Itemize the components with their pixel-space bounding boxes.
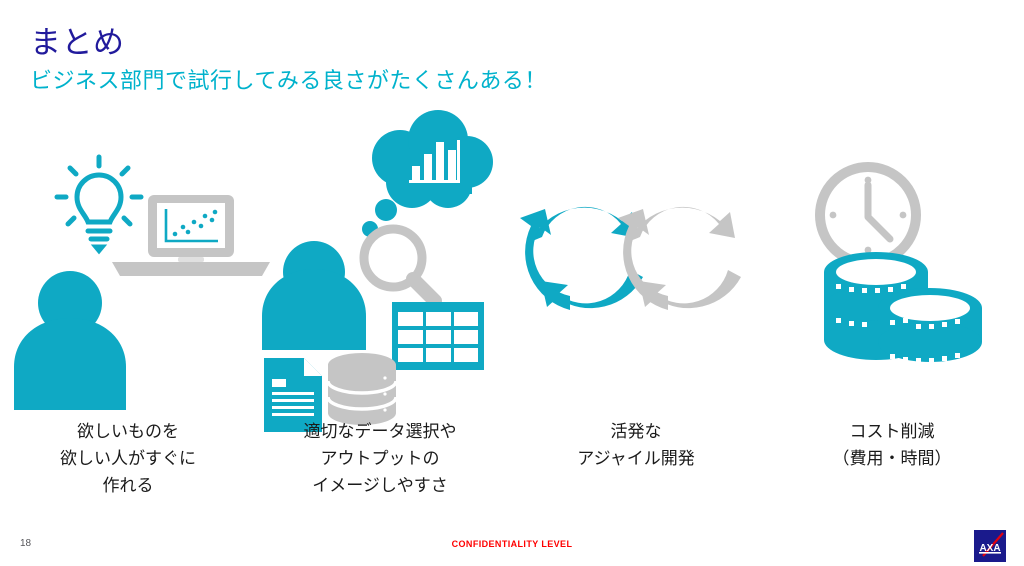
caption-column-3: 活発な アジャイル開発 — [508, 418, 764, 472]
confidentiality-label: CONFIDENTIALITY LEVEL — [0, 539, 1024, 549]
cycle-arrows-gray-icon — [618, 207, 741, 310]
lightbulb-icon — [57, 157, 141, 252]
page-title: まとめ — [30, 24, 547, 62]
caption-line: イメージしやすさ — [252, 472, 508, 499]
laptop-scatter-chart-icon — [112, 195, 270, 276]
coins-stack-icon — [824, 252, 982, 363]
column-1 — [0, 110, 256, 410]
caption-line: 欲しい人がすぐに — [0, 445, 256, 472]
thought-bubble-bar-chart-icon — [362, 110, 493, 237]
person-icon — [14, 271, 126, 410]
page-subtitle: ビジネス部門で試行してみる良さがたくさんある！ — [30, 66, 547, 96]
database-icon — [328, 353, 396, 425]
slide: まとめ ビジネス部門で試行してみる良さがたくさんある！ — [0, 0, 1024, 566]
caption-column-4: コスト削減 （費用・時間） — [764, 418, 1020, 472]
clock-icon — [820, 167, 916, 263]
slide-footer: 18 CONFIDENTIALITY LEVEL AXA — [0, 526, 1024, 566]
axa-logo: AXA — [974, 530, 1006, 562]
column-3 — [508, 110, 764, 410]
caption-line: 作れる — [0, 472, 256, 499]
column-4 — [764, 110, 1020, 410]
caption-line: 適切なデータ選択や — [252, 418, 508, 445]
caption-line: コスト削減 — [764, 418, 1020, 445]
column-2 — [252, 110, 508, 410]
caption-line: （費用・時間） — [764, 445, 1020, 472]
column-3-artwork — [508, 110, 764, 410]
magnifier-pulse-icon — [364, 229, 435, 301]
caption-line: アウトプットの — [252, 445, 508, 472]
column-2-artwork — [252, 110, 508, 410]
column-1-artwork — [0, 110, 256, 410]
caption-column-2: 適切なデータ選択や アウトプットの イメージしやすさ — [252, 418, 508, 499]
column-4-artwork — [764, 110, 1020, 410]
caption-line: アジャイル開発 — [508, 445, 764, 472]
icon-columns — [0, 110, 1024, 410]
table-grid-icon — [392, 302, 484, 370]
caption-line: 欲しいものを — [0, 418, 256, 445]
caption-line: 活発な — [508, 418, 764, 445]
axa-logo-text: AXA — [979, 543, 1001, 554]
caption-column-1: 欲しいものを 欲しい人がすぐに 作れる — [0, 418, 256, 499]
person-icon — [262, 241, 366, 350]
slide-header: まとめ ビジネス部門で試行してみる良さがたくさんある！ — [30, 24, 547, 96]
